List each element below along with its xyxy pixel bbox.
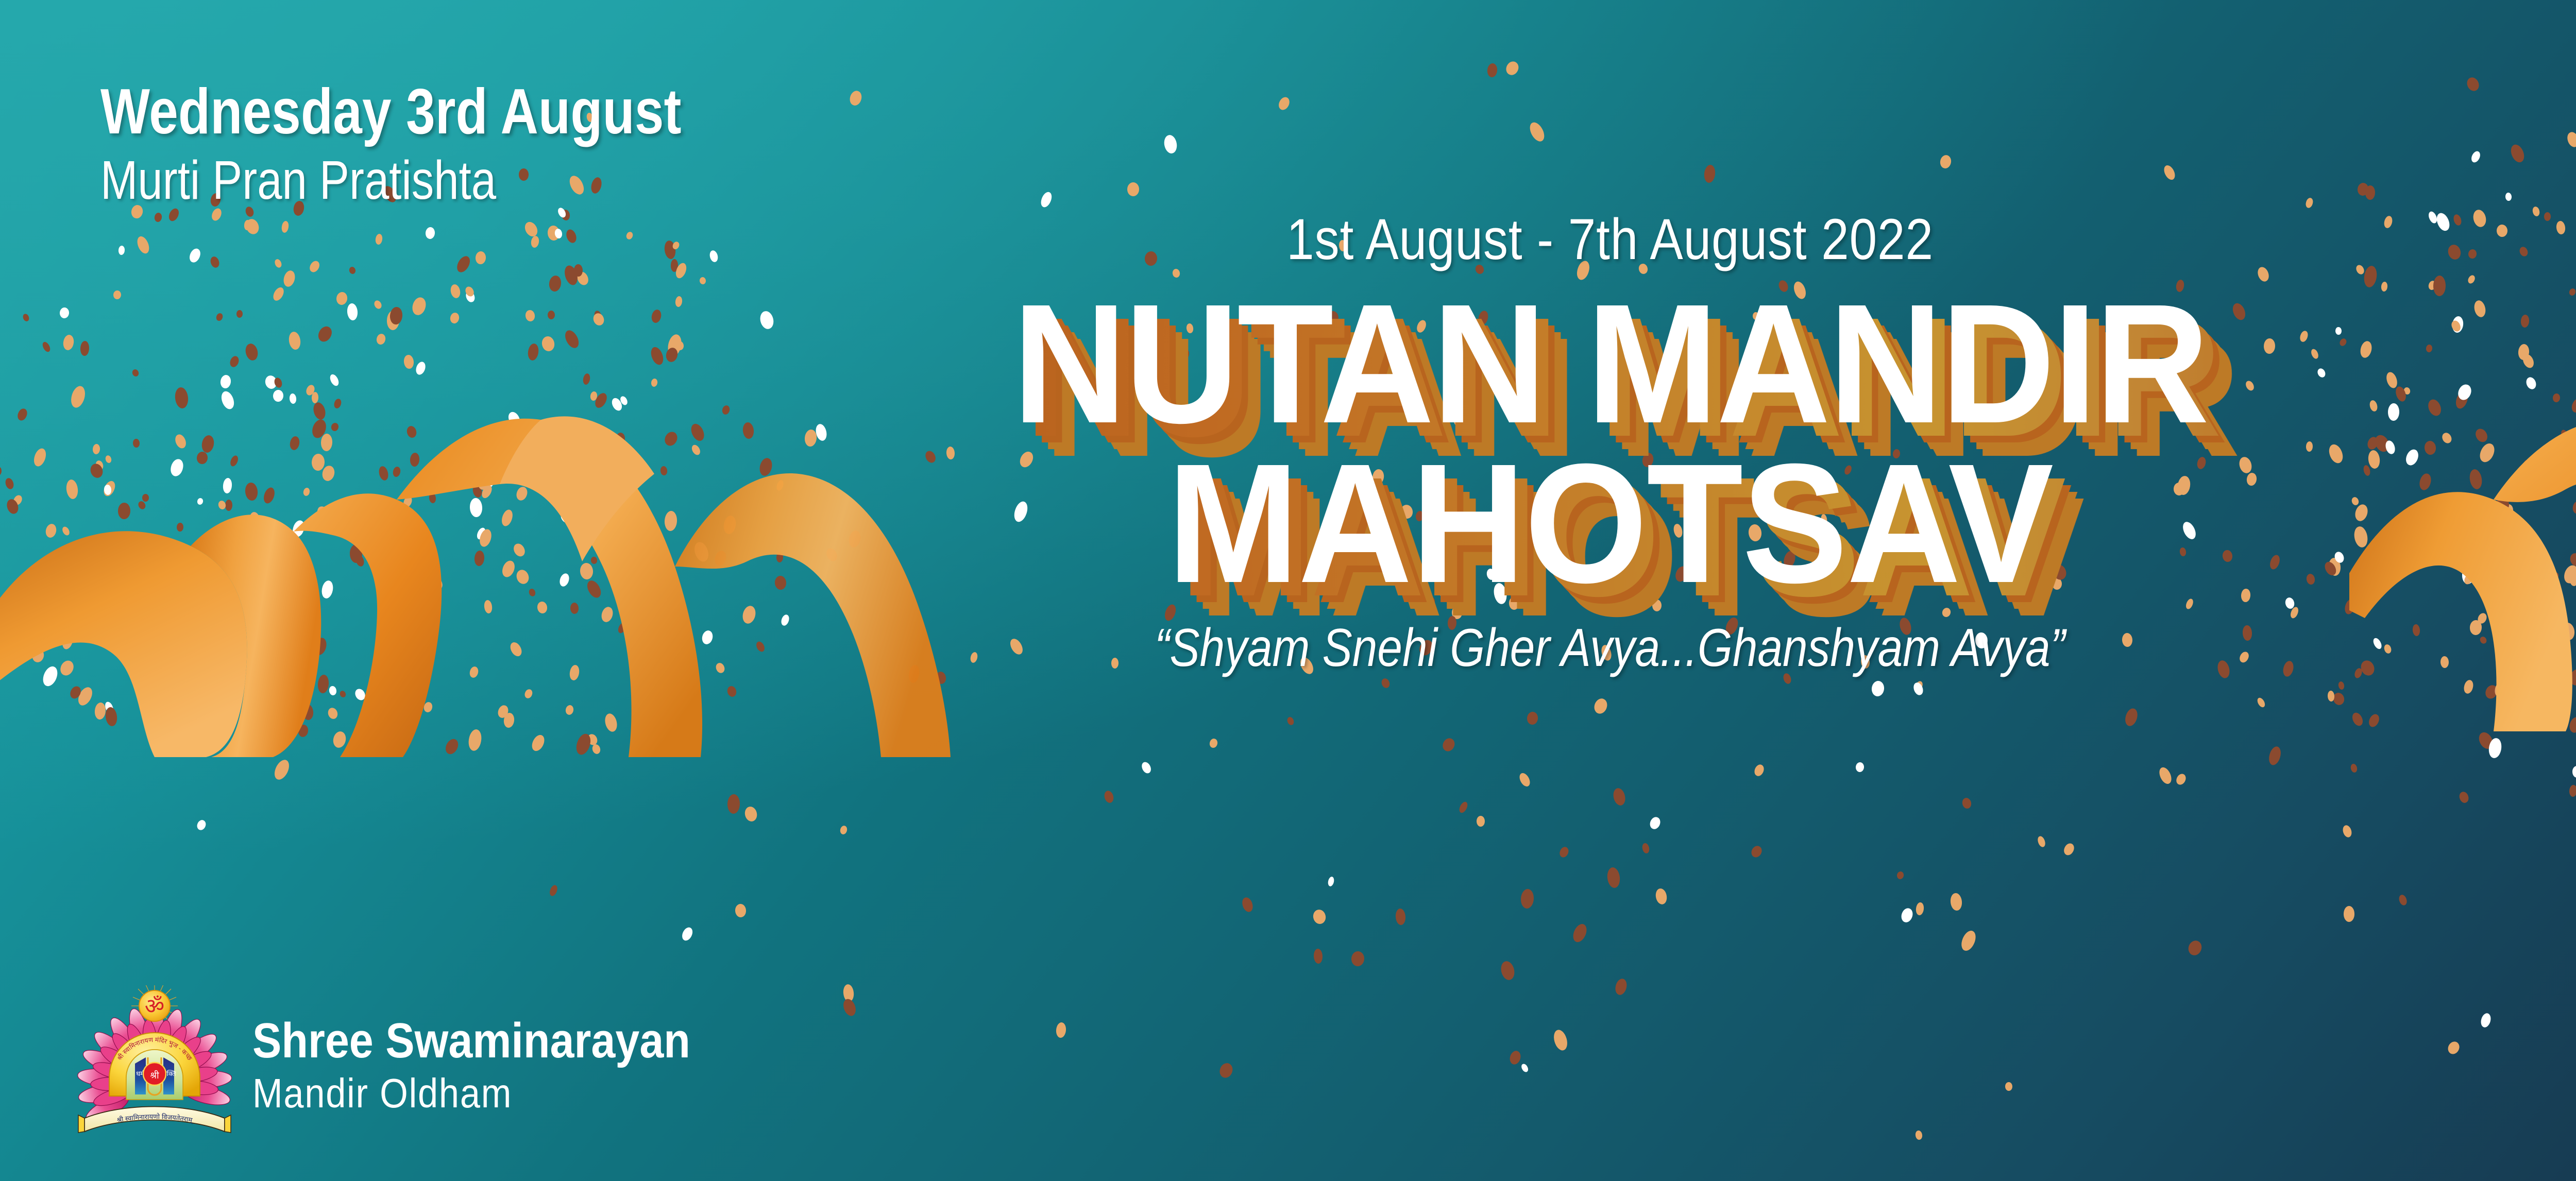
confetti-dot: [2517, 608, 2530, 623]
confetti-dot: [1612, 787, 1627, 807]
confetti-dot: [537, 601, 548, 613]
confetti-dot: [378, 466, 389, 482]
confetti-dot: [464, 285, 476, 298]
left-event-block: Wednesday 3rd August Murti Pran Pratisht…: [100, 80, 809, 209]
confetti-dot: [574, 264, 583, 277]
mandir-name: Shree Swaminarayan: [252, 1016, 690, 1066]
confetti-dot: [2450, 319, 2462, 333]
confetti-dot: [443, 737, 461, 756]
confetti-dot: [508, 641, 524, 659]
confetti-dot: [662, 430, 679, 448]
confetti-dot: [1312, 909, 1327, 925]
confetti-dot: [80, 340, 89, 356]
confetti-dot: [1959, 928, 1978, 952]
confetti-dot: [1914, 680, 1924, 692]
confetti-dot: [568, 664, 580, 681]
confetti-dot: [2456, 382, 2473, 402]
confetti-dot: [173, 433, 188, 450]
confetti-dot: [1477, 816, 1485, 827]
confetti-dot: [650, 309, 662, 324]
confetti-dot: [218, 532, 228, 545]
confetti-dot: [580, 562, 594, 578]
confetti-dot: [1286, 716, 1295, 726]
confetti-dot: [121, 540, 130, 552]
confetti-dot: [500, 559, 516, 579]
confetti-dot: [404, 714, 415, 730]
confetti-dot: [2524, 376, 2538, 391]
confetti-dot: [1648, 815, 1662, 831]
confetti-dot: [104, 700, 115, 714]
confetti-dot: [135, 234, 151, 255]
confetti-dot: [2469, 620, 2482, 636]
confetti-dot: [1380, 677, 1391, 690]
confetti-dot: [742, 422, 755, 439]
confetti-dot: [578, 446, 585, 455]
confetti-dot: [1351, 951, 1365, 967]
confetti-dot: [297, 724, 309, 738]
confetti-dot: [1750, 844, 1764, 860]
confetti-dot: [671, 259, 679, 272]
confetti-dot: [1871, 680, 1885, 697]
confetti-dot: [548, 275, 562, 293]
confetti-dot: [601, 456, 611, 467]
confetti-dot: [65, 478, 79, 500]
confetti-dot: [94, 702, 106, 720]
confetti-dot: [219, 390, 236, 411]
confetti-dot: [1499, 960, 1516, 982]
confetti-dot: [2440, 656, 2449, 669]
confetti-dot: [137, 500, 147, 510]
confetti-dot: [282, 269, 297, 288]
confetti-dot: [12, 494, 24, 507]
confetti-dot: [531, 235, 540, 248]
confetti-dot: [61, 525, 71, 537]
confetti-dot: [1753, 763, 1765, 777]
confetti-dot: [215, 313, 224, 322]
confetti-dot: [533, 455, 549, 473]
confetti-dot: [743, 806, 758, 823]
confetti-dot: [241, 598, 257, 619]
confetti-dot: [528, 588, 536, 597]
confetti-dot: [2533, 456, 2543, 467]
confetti-dot: [2434, 211, 2451, 232]
confetti-dot: [454, 254, 472, 275]
confetti-dot: [59, 307, 70, 319]
confetti-dot: [2480, 1012, 2493, 1029]
confetti-dot: [176, 522, 183, 532]
confetti-dot: [467, 442, 476, 452]
confetti-dot: [2037, 835, 2047, 848]
confetti-dot: [2451, 316, 2464, 334]
confetti-dot: [2560, 445, 2568, 455]
confetti-dot: [547, 311, 555, 319]
confetti-dot: [2484, 683, 2500, 701]
scroll-tail-left: [78, 1115, 84, 1133]
confetti-dot: [575, 270, 590, 287]
confetti-dot: [2357, 182, 2369, 196]
confetti-dot: [2186, 939, 2204, 957]
confetti-dot: [2488, 579, 2496, 590]
confetti-dot: [464, 290, 476, 304]
confetti-dot: [2494, 681, 2505, 697]
confetti-dot: [2496, 553, 2509, 569]
confetti-dot: [345, 526, 352, 535]
confetti-dot: [726, 685, 738, 698]
confetti-dot: [2427, 280, 2436, 290]
confetti-dot: [1558, 846, 1570, 859]
left-event-date: Wednesday 3rd August: [100, 80, 682, 144]
left-event-name: Murti Pran Pratishta: [100, 152, 682, 209]
confetti-dot: [75, 573, 90, 593]
confetti-dot: [2544, 212, 2551, 221]
confetti-dot: [154, 212, 163, 222]
confetti-dot: [675, 340, 684, 351]
confetti-dot: [586, 733, 599, 747]
confetti-dot: [635, 501, 647, 514]
confetti-dot: [62, 334, 75, 351]
confetti-dot: [417, 474, 433, 493]
confetti-dot: [1217, 1061, 1234, 1080]
confetti-dot: [727, 794, 740, 814]
confetti-dot: [1641, 842, 1650, 854]
confetti-dot: [2569, 552, 2576, 568]
confetti-dot: [2461, 565, 2475, 585]
confetti-dot: [206, 577, 217, 591]
mandir-logo-text: Shree Swaminarayan Mandir Oldham: [252, 1016, 750, 1115]
confetti-dot: [843, 984, 855, 1002]
confetti-dot: [432, 576, 445, 591]
confetti-dot: [333, 398, 342, 408]
confetti-dot: [1592, 697, 1609, 715]
confetti-dot: [1127, 182, 1139, 196]
confetti-dot: [503, 712, 515, 728]
confetti-dot: [775, 479, 785, 491]
confetti-dot: [471, 467, 485, 487]
event-banner: Wednesday 3rd August Murti Pran Pratisht…: [0, 0, 2576, 1181]
mandir-location: Mandir Oldham: [252, 1072, 690, 1115]
confetti-dot: [1103, 790, 1115, 804]
confetti-dot: [104, 484, 112, 495]
confetti-dot: [515, 568, 531, 586]
confetti-dot: [2426, 345, 2432, 353]
confetti-dot: [228, 355, 240, 368]
confetti-dot: [1055, 1022, 1066, 1038]
confetti-dot: [477, 473, 490, 490]
confetti-dot: [633, 560, 642, 577]
confetti-dot: [44, 523, 57, 539]
confetti-dot: [2267, 745, 2283, 767]
confetti-dot: [2433, 276, 2446, 296]
confetti-dot: [681, 638, 692, 651]
event-title: NUTAN MANDIR NUTAN MANDIR MAHOTSAV MAHOT…: [811, 284, 2409, 603]
confetti-dot: [58, 659, 76, 678]
confetti-dot: [2467, 274, 2477, 285]
confetti-dot: [291, 519, 307, 538]
confetti-dot: [95, 632, 103, 642]
confetti-dot: [2424, 440, 2436, 455]
confetti-dot: [713, 550, 727, 567]
confetti-dot: [2350, 711, 2365, 727]
confetti-dot: [2519, 559, 2536, 578]
confetti-dot: [548, 884, 558, 897]
confetti-dot: [113, 290, 121, 300]
confetti-dot: [2536, 462, 2554, 481]
confetti-dot: [1950, 893, 1962, 911]
confetti-dot: [2428, 497, 2434, 506]
confetti-dot: [722, 515, 737, 535]
confetti-dot: [228, 614, 244, 634]
confetti-dot: [131, 369, 140, 378]
confetti-dot: [364, 506, 373, 516]
confetti-dot: [2476, 612, 2488, 625]
confetti-dot: [386, 310, 400, 330]
confetti-dot: [523, 688, 534, 699]
confetti-dot: [375, 333, 386, 346]
confetti-dot: [2452, 214, 2463, 227]
confetti-dot: [636, 592, 643, 602]
centre-block: 1st August - 7th August 2022 NUTAN MANDI…: [811, 206, 2409, 679]
confetti-dot: [233, 611, 243, 624]
confetti-dot: [2463, 679, 2475, 695]
confetti-dot: [273, 607, 280, 618]
confetti-dot: [581, 562, 594, 578]
confetti-dot: [2523, 460, 2532, 473]
confetti-dot: [558, 481, 571, 495]
confetti-dot: [236, 310, 243, 318]
confetti-dot: [2562, 563, 2576, 585]
confetti-dot: [320, 510, 327, 518]
confetti-dot: [2447, 244, 2463, 262]
confetti-dot: [244, 219, 251, 230]
confetti-dot: [281, 220, 290, 233]
confetti-dot: [301, 704, 314, 721]
confetti-dot: [565, 228, 579, 245]
confetti-dot: [664, 511, 677, 532]
confetti-dot: [1654, 887, 1668, 905]
confetti-dot: [317, 674, 329, 694]
confetti-dot: [344, 518, 353, 534]
confetti-dot: [578, 481, 588, 499]
confetti-dot: [2418, 472, 2433, 491]
confetti-dot: [758, 457, 774, 477]
confetti-dot: [105, 455, 113, 464]
confetti-dot: [591, 312, 606, 327]
confetti-dot: [269, 537, 282, 552]
confetti-dot: [2527, 710, 2537, 722]
confetti-dot: [690, 443, 702, 456]
confetti-dot: [1914, 1130, 1922, 1140]
confetti-dot: [699, 277, 706, 285]
confetti-dot: [75, 685, 95, 708]
confetti-dot: [1912, 681, 1924, 696]
confetti-dot: [660, 601, 674, 623]
right-event-block: Saturday 6th August Nagar Yatra: [2493, 80, 2576, 209]
confetti-dot: [449, 284, 461, 299]
title-line-1-face: NUTAN MANDIR: [868, 284, 2353, 443]
confetti-dot: [478, 528, 493, 548]
confetti-dot: [245, 482, 259, 501]
confetti-dot: [2472, 300, 2487, 319]
confetti-dot: [1856, 762, 1865, 772]
confetti-dot: [2440, 431, 2453, 445]
confetti-dot: [648, 568, 663, 584]
confetti-dot: [2500, 523, 2507, 534]
mandir-logo: ॐ धर्म भक्ति श्री श्री स्वामिनारायण मंदि…: [77, 985, 750, 1145]
confetti-dot: [1487, 63, 1498, 78]
confetti-dot: [651, 378, 658, 387]
confetti-dot: [610, 397, 624, 413]
confetti-dot: [117, 503, 130, 519]
confetti-dot: [558, 572, 570, 588]
confetti-dot: [1939, 155, 1952, 169]
confetti-dot: [2470, 150, 2482, 164]
confetti-dot: [2427, 211, 2439, 225]
confetti-dot: [5, 498, 20, 515]
title-line-2: MAHOTSAV MAHOTSAV: [868, 443, 2353, 603]
confetti-dot: [2468, 469, 2483, 490]
confetti-dot: [529, 733, 546, 753]
om-symbol: ॐ: [145, 994, 164, 1018]
confetti-dot: [1520, 1063, 1529, 1073]
confetti-dot: [649, 345, 666, 366]
confetti-dot: [273, 376, 283, 389]
confetti-dot: [780, 613, 790, 627]
confetti-dot: [1209, 738, 1218, 748]
confetti-dot: [689, 422, 706, 442]
confetti-dot: [1520, 888, 1535, 909]
confetti-dot: [2504, 591, 2520, 608]
confetti-dot: [467, 728, 483, 751]
confetti-dot: [1313, 949, 1323, 964]
confetti-dot: [562, 264, 579, 286]
confetti-dot: [468, 666, 479, 679]
event-tagline: “Shyam Snehi Gher Avya...Ghanshyam Avya”: [939, 618, 2281, 679]
confetti-dot: [2124, 707, 2140, 727]
confetti-dot: [585, 578, 603, 600]
confetti-dot: [2518, 245, 2530, 258]
confetti-dot: [2426, 398, 2443, 418]
confetti-dot: [1508, 1049, 1522, 1066]
confetti-dot: [593, 391, 609, 410]
confetti-dot: [311, 392, 318, 404]
confetti-dot: [701, 629, 714, 646]
confetti-dot: [619, 395, 629, 406]
confetti-dot: [721, 404, 731, 416]
confetti-dot: [209, 255, 221, 268]
confetti-dot: [411, 296, 428, 316]
confetti-dot: [629, 520, 643, 535]
confetti-dot: [220, 374, 232, 389]
confetti-dot: [31, 647, 45, 663]
confetti-dot: [2556, 220, 2566, 235]
confetti-dot: [2453, 389, 2470, 410]
confetti-dot: [248, 511, 261, 530]
confetti-dot: [375, 233, 383, 245]
confetti-dot: [603, 712, 619, 732]
confetti-dot: [524, 309, 535, 321]
confetti-dot: [2458, 791, 2470, 804]
confetti-dot: [2569, 575, 2576, 587]
confetti-dot: [310, 418, 328, 440]
confetti-dot: [102, 479, 117, 497]
confetti-dot: [1606, 867, 1621, 889]
confetti-dot: [522, 219, 540, 238]
confetti-dot: [848, 89, 863, 107]
confetti-dot: [570, 603, 579, 614]
confetti-dot: [2472, 209, 2488, 229]
confetti-dot: [2479, 636, 2487, 645]
confetti-dot: [61, 631, 75, 651]
confetti-dot: [666, 333, 684, 358]
confetti-dot: [561, 209, 570, 221]
confetti-dot: [118, 246, 125, 255]
confetti-dot: [327, 706, 340, 720]
confetti-dot: [664, 239, 676, 259]
confetti-dot: [229, 455, 240, 468]
confetti-dot: [68, 684, 83, 700]
confetti-dot: [121, 581, 135, 596]
confetti-dot: [389, 306, 403, 325]
confetti-dot: [585, 530, 591, 540]
confetti-dot: [274, 258, 283, 268]
confetti-dot: [649, 624, 660, 638]
confetti-dot: [373, 537, 385, 553]
confetti-dot: [594, 310, 603, 321]
confetti-dot: [1527, 120, 1547, 144]
confetti-dot: [472, 484, 484, 499]
confetti-dot: [225, 500, 232, 511]
confetti-dot: [338, 690, 347, 698]
swaminarayan-emblem-icon: ॐ धर्म भक्ति श्री श्री स्वामिनारायण मंदि…: [77, 985, 232, 1145]
confetti-dot: [320, 579, 334, 599]
confetti-dot: [184, 603, 199, 619]
confetti-dot: [222, 477, 232, 493]
confetti-dot: [1896, 871, 1904, 880]
confetti-dot: [273, 389, 283, 402]
confetti-dot: [280, 639, 300, 662]
confetti-dot: [2342, 824, 2353, 838]
confetti-dot: [580, 562, 594, 580]
confetti-dot: [295, 575, 303, 585]
confetti-dot: [600, 605, 614, 623]
confetti-dot: [405, 425, 418, 439]
confetti-dot: [2162, 163, 2177, 181]
confetti-dot: [69, 384, 88, 409]
confetti-dot: [196, 498, 204, 506]
confetti-dot: [2343, 906, 2354, 922]
confetti-dot: [41, 340, 52, 353]
confetti-dot: [2552, 393, 2561, 402]
confetti-dot: [2005, 1082, 2012, 1090]
confetti-dot: [354, 554, 365, 568]
confetti-dot: [364, 497, 381, 515]
confetti-dot: [1458, 801, 1469, 814]
title-line-2-face: MAHOTSAV: [868, 443, 2353, 603]
confetti-dot: [200, 434, 215, 454]
confetti-dot: [2477, 441, 2497, 465]
confetti-dot: [2520, 315, 2530, 328]
confetti-dot: [2256, 697, 2267, 709]
confetti-dot: [40, 664, 60, 688]
confetti-dot: [311, 453, 325, 471]
confetti-dot: [485, 478, 495, 489]
confetti-dot: [435, 470, 445, 482]
confetti-dot: [1900, 907, 1914, 924]
confetti-dot: [515, 421, 529, 437]
confetti-dot: [452, 458, 466, 473]
confetti-dot: [2569, 785, 2576, 797]
confetti-dot: [349, 266, 357, 275]
